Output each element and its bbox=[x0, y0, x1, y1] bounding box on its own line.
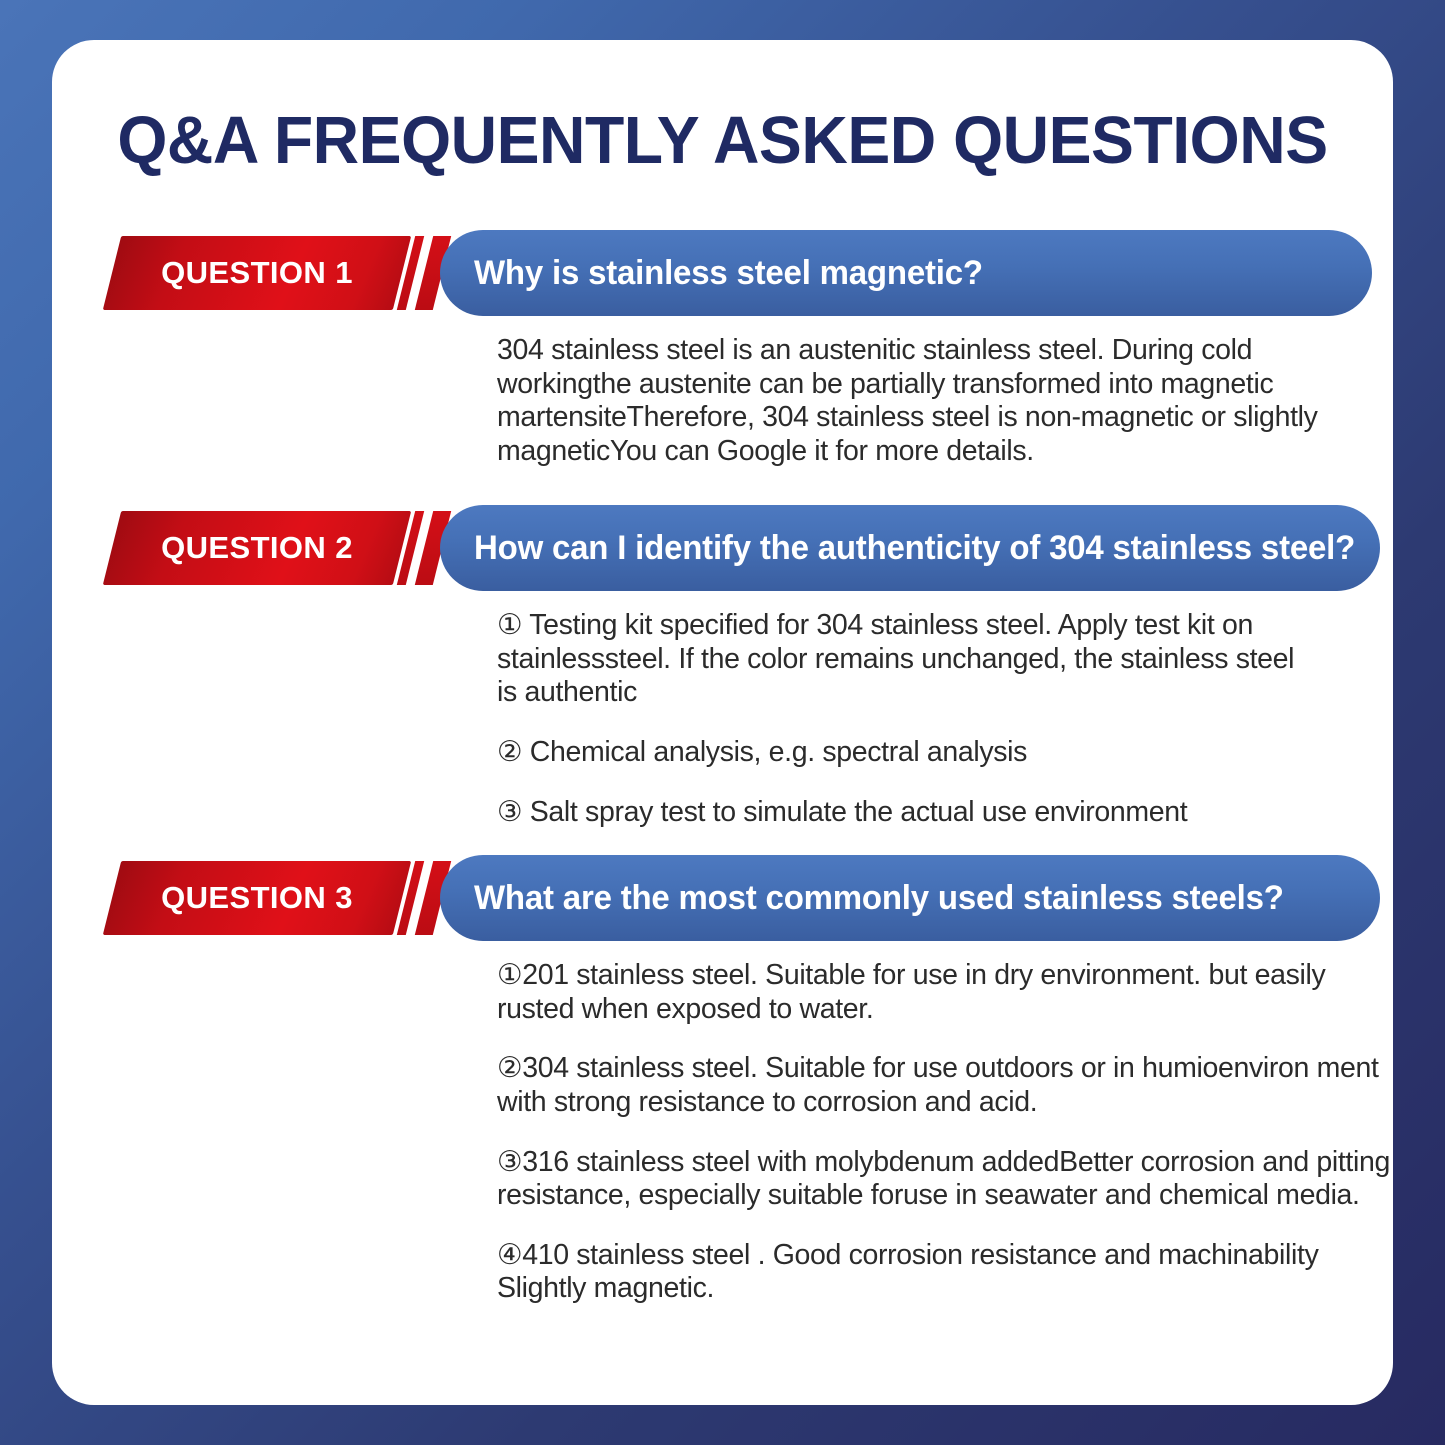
question-pill-3[interactable]: What are the most commonly used stainles… bbox=[440, 855, 1380, 941]
answer-body-2: ① Testing kit specified for 304 stainles… bbox=[497, 609, 1317, 829]
faq-item-1: QUESTION 1 Why is stainless steel magnet… bbox=[52, 230, 1393, 316]
question-text-3: What are the most commonly used stainles… bbox=[474, 879, 1284, 918]
faq-item-3: QUESTION 3 What are the most commonly us… bbox=[52, 855, 1393, 941]
answer-paragraph: ① Testing kit specified for 304 stainles… bbox=[497, 609, 1317, 710]
faq-header-1: QUESTION 1 Why is stainless steel magnet… bbox=[52, 230, 1393, 316]
faq-card: Q&A FREQUENTLY ASKED QUESTIONS QUESTION … bbox=[52, 40, 1393, 1405]
question-tag-label-2: QUESTION 2 bbox=[112, 511, 402, 585]
answer-paragraph: ④410 stainless steel . Good corrosion re… bbox=[497, 1239, 1393, 1306]
faq-header-2: QUESTION 2 How can I identify the authen… bbox=[52, 505, 1393, 591]
answer-paragraph: ①201 stainless steel. Suitable for use i… bbox=[497, 959, 1393, 1026]
question-tag-label-3: QUESTION 3 bbox=[112, 861, 402, 935]
answer-body-1: 304 stainless steel is an austenitic sta… bbox=[497, 334, 1377, 469]
question-text-2: How can I identify the authenticity of 3… bbox=[474, 529, 1355, 568]
page-title: Q&A FREQUENTLY ASKED QUESTIONS bbox=[79, 102, 1366, 179]
answer-paragraph: ③ Salt spray test to simulate the actual… bbox=[497, 796, 1317, 830]
answer-paragraph: ② Chemical analysis, e.g. spectral analy… bbox=[497, 736, 1317, 770]
answer-paragraph: 304 stainless steel is an austenitic sta… bbox=[497, 334, 1377, 469]
answer-paragraph: ③316 stainless steel with molybdenum add… bbox=[497, 1146, 1393, 1213]
faq-header-3: QUESTION 3 What are the most commonly us… bbox=[52, 855, 1393, 941]
answer-body-3: ①201 stainless steel. Suitable for use i… bbox=[497, 959, 1393, 1306]
faq-page: Q&A FREQUENTLY ASKED QUESTIONS QUESTION … bbox=[0, 0, 1445, 1445]
question-text-1: Why is stainless steel magnetic? bbox=[474, 254, 983, 293]
question-tag-label-1: QUESTION 1 bbox=[112, 236, 402, 310]
question-pill-2[interactable]: How can I identify the authenticity of 3… bbox=[440, 505, 1380, 591]
faq-item-2: QUESTION 2 How can I identify the authen… bbox=[52, 505, 1393, 591]
question-pill-1[interactable]: Why is stainless steel magnetic? bbox=[440, 230, 1372, 316]
answer-paragraph: ②304 stainless steel. Suitable for use o… bbox=[497, 1052, 1393, 1119]
